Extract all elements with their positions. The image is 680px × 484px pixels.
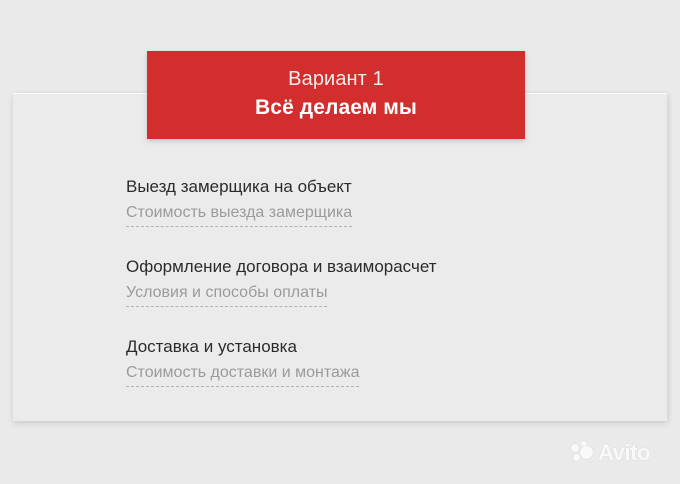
avito-dots-icon (571, 441, 597, 465)
banner-title: Всё делаем мы (255, 94, 417, 122)
service-title: Доставка и установка (126, 335, 546, 358)
service-title: Выезд замерщика на объект (126, 175, 546, 198)
service-list: Выезд замерщика на объект Стоимость выез… (126, 175, 546, 387)
service-link[interactable]: Условия и способы оплаты (126, 282, 327, 307)
list-item: Оформление договора и взаиморасчет Услов… (126, 255, 546, 307)
avito-wordmark: Avito (598, 441, 650, 465)
avito-dot-large (580, 446, 593, 459)
service-link[interactable]: Стоимость доставки и монтажа (126, 362, 359, 387)
list-item: Выезд замерщика на объект Стоимость выез… (126, 175, 546, 227)
avito-dot-small-left (571, 444, 579, 452)
variant-banner: Вариант 1 Всё делаем мы (147, 51, 525, 139)
banner-subtitle: Вариант 1 (288, 66, 384, 93)
list-item: Доставка и установка Стоимость доставки … (126, 335, 546, 387)
service-link[interactable]: Стоимость выезда замерщика (126, 202, 352, 227)
avito-watermark: Avito (571, 441, 650, 465)
service-title: Оформление договора и взаиморасчет (126, 255, 546, 278)
avito-dot-small-bottom (573, 454, 580, 461)
screenshot-root: Вариант 1 Всё делаем мы Выезд замерщика … (0, 0, 680, 484)
